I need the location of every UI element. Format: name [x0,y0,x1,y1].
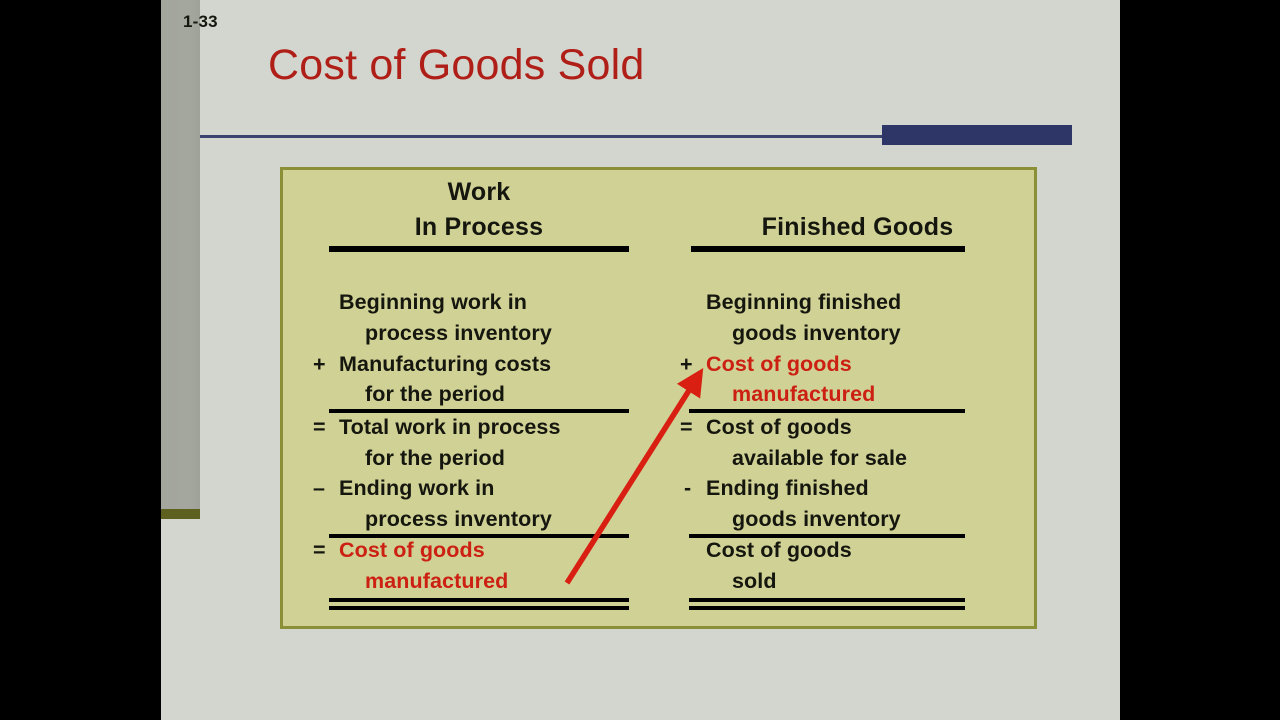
column-heading-work-in-process-line2: In Process [283,213,727,242]
row-rule-total-bottom-work-in-process [329,606,629,610]
row-text-line1: Ending work in [339,476,494,501]
column-heading-rule-work-in-process [329,246,629,252]
row-text-line2: available for sale [732,446,907,471]
row-rule-total-top-work-in-process [329,598,629,602]
row-rule-after-manufacturing-costs [329,409,629,413]
row-text-line1: Manufacturing costs [339,352,551,377]
row-operator: + [313,352,335,377]
row-text-line2: for the period [365,446,505,471]
column-heading-work-in-process-line1: Work [283,178,727,207]
cogs-diagram-panel: Work In Process Beginning work in proces… [280,167,1037,629]
row-text-line1: Cost of goods [706,538,852,563]
row-text-line2: manufactured [365,569,508,594]
slide-left-accent-band [161,0,200,519]
column-heading-rule-finished-goods [691,246,965,252]
presentation-slide: 1-33 Cost of Goods Sold Work In Process … [161,0,1120,720]
row-text-line1: Cost of goods [339,538,485,563]
column-work-in-process: Work In Process Beginning work in proces… [283,170,675,626]
screenshot-root: 1-33 Cost of Goods Sold Work In Process … [0,0,1280,720]
row-text-line1: Ending finished [706,476,869,501]
row-text-line1: Beginning work in [339,290,527,315]
row-text-line2: goods inventory [732,507,901,532]
title-divider-block [882,125,1072,145]
row-text-line2: manufactured [732,382,875,407]
row-text-line2: for the period [365,382,505,407]
row-operator: = [680,415,702,440]
row-rule-after-cost-of-goods-manufactured [689,409,965,413]
column-finished-goods: Finished Goods Beginning finished goods … [675,170,1040,626]
row-operator: + [680,352,702,377]
row-text-line1: Cost of goods [706,352,852,377]
row-text-line1: Beginning finished [706,290,901,315]
column-heading-finished-goods: Finished Goods [675,213,1044,242]
row-operator: = [313,415,335,440]
row-text-line2: sold [732,569,777,594]
row-text-line1: Total work in process [339,415,561,440]
row-text-line1: Cost of goods [706,415,852,440]
slide-left-accent-band-foot [161,509,200,519]
row-text-line2: process inventory [365,321,552,346]
row-operator: - [684,476,706,501]
row-operator: = [313,538,335,563]
row-rule-total-top-finished-goods [689,598,965,602]
page-number: 1-33 [183,12,218,32]
page-title: Cost of Goods Sold [268,41,644,90]
row-operator: – [313,476,335,501]
row-text-line2: goods inventory [732,321,901,346]
row-text-line2: process inventory [365,507,552,532]
row-rule-total-bottom-finished-goods [689,606,965,610]
